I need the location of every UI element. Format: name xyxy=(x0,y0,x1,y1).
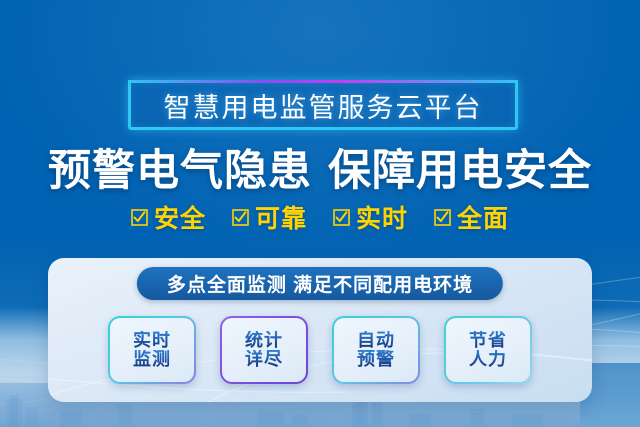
feature-card-tongji-xiangjin[interactable]: 统计 详尽 xyxy=(220,316,308,384)
feature-label: 全面 xyxy=(457,199,509,235)
feature-label: 安全 xyxy=(154,199,206,235)
feature-card-line-1: 实时 xyxy=(133,331,171,350)
title-badge: 智慧用电监管服务云平台 xyxy=(128,80,518,130)
feature-card-line-1: 节省 xyxy=(469,331,507,350)
checkbox-checked-icon xyxy=(434,209,451,226)
checkbox-checked-icon xyxy=(333,209,350,226)
feature-card-inner: 实时 监测 xyxy=(110,318,194,382)
poster-canvas: 智慧用电监管服务云平台 预警电气隐患保障用电安全 安全 可靠 xyxy=(0,0,640,427)
checkbox-checked-icon xyxy=(131,209,148,226)
feature-item-shishi: 实时 xyxy=(333,199,408,235)
feature-label: 可靠 xyxy=(255,199,307,235)
title-badge-text: 智慧用电监管服务云平台 xyxy=(164,86,483,125)
feature-card-line-2: 预警 xyxy=(357,350,395,369)
panel-subtitle-text: 多点全面监测 满足不同配用电环境 xyxy=(167,270,473,297)
feature-card-inner: 统计 详尽 xyxy=(222,318,306,382)
feature-card-line-2: 人力 xyxy=(469,350,507,369)
feature-item-anquan: 安全 xyxy=(131,199,206,235)
feature-card-line-2: 监测 xyxy=(133,350,171,369)
feature-check-list: 安全 可靠 实时 xyxy=(0,199,640,235)
feature-card-line-2: 详尽 xyxy=(245,350,283,369)
feature-item-quanmian: 全面 xyxy=(434,199,509,235)
feature-card-zidong-yujing[interactable]: 自动 预警 xyxy=(332,316,420,384)
headline: 预警电气隐患保障用电安全 xyxy=(0,136,640,198)
feature-card-line-1: 自动 xyxy=(357,331,395,350)
feature-card-inner: 自动 预警 xyxy=(334,318,418,382)
feature-card-line-1: 统计 xyxy=(245,331,283,350)
feature-card-list: 实时 监测 统计 详尽 自动 预警 节省 人力 xyxy=(48,313,592,387)
checkbox-checked-icon xyxy=(232,209,249,226)
feature-card-shishi-jiance[interactable]: 实时 监测 xyxy=(108,316,196,384)
feature-item-kekao: 可靠 xyxy=(232,199,307,235)
feature-card-inner: 节省 人力 xyxy=(446,318,530,382)
feature-card-jiesheng-renli[interactable]: 节省 人力 xyxy=(444,316,532,384)
feature-label: 实时 xyxy=(356,199,408,235)
headline-part-2: 保障用电安全 xyxy=(328,147,592,195)
panel-subtitle-pill: 多点全面监测 满足不同配用电环境 xyxy=(137,267,503,300)
headline-part-1: 预警电气隐患 xyxy=(48,147,312,195)
